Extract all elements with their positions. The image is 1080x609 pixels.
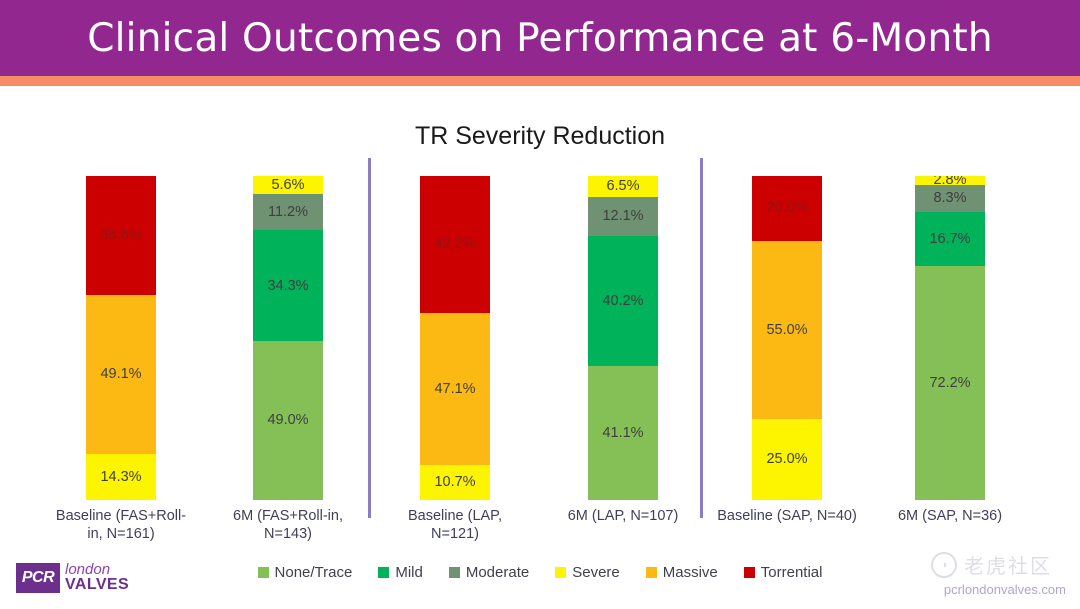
bar-segment-label: 16.7% [929,232,970,247]
page-title: Clinical Outcomes on Performance at 6-Mo… [87,16,993,61]
bar-segment-label: 42.2% [434,237,475,252]
category-label: Baseline (FAS+Roll-in, N=161) [41,507,201,543]
category-label-line: 6M (LAP, N=107) [533,507,713,525]
bar-segment-label: 12.1% [602,209,643,224]
bar-segment-label: 72.2% [929,376,970,391]
logo-valves-text: VALVES [65,577,129,593]
bar-segment-label: 34.3% [267,279,308,294]
legend-swatch-icon [744,567,755,578]
bar-segment[interactable]: 25.0% [752,419,822,500]
category-label: Baseline (SAP, N=40) [692,507,882,525]
bar-segment[interactable]: 16.7% [915,212,985,266]
bar-segment-label: 40.2% [602,294,643,309]
category-label-line: Baseline (LAP, [375,507,535,525]
stacked-bar[interactable]: 6.5%12.1%40.2%41.1% [588,176,658,500]
group-divider [700,158,703,518]
bar-segment-label: 6.5% [606,179,639,194]
bar-segment[interactable]: 2.8% [915,176,985,185]
legend-label: Severe [572,564,620,581]
category-label-line: Baseline (SAP, N=40) [692,507,882,525]
bar-group[interactable]: 2.8%8.3%16.7%72.2% [915,176,985,500]
bar-segment-label: 25.0% [766,452,807,467]
footer-url: pcrlondonvalves.com [944,582,1066,597]
legend-swatch-icon [378,567,389,578]
chart-area: TR Severity Reduction 36.6%49.1%14.3%Bas… [0,86,1080,609]
bar-segment-label: 11.2% [268,205,308,220]
logo-wordmark: london VALVES [65,562,129,594]
category-label: 6M (LAP, N=107) [533,507,713,525]
bar-segment-label: 20.0% [766,201,807,216]
bar-segment[interactable]: 20.0% [752,176,822,241]
legend-label: Moderate [466,564,529,581]
category-label: 6M (SAP, N=36) [860,507,1040,525]
legend-swatch-icon [646,567,657,578]
bar-segment[interactable]: 12.1% [588,197,658,236]
bar-segment-label: 41.1% [602,426,643,441]
stacked-bar[interactable]: 2.8%8.3%16.7%72.2% [915,176,985,500]
legend-item[interactable]: Mild [378,564,423,581]
category-label-line: 6M (SAP, N=36) [860,507,1040,525]
category-label-line: 6M (FAS+Roll-in, [208,507,368,525]
category-label-line: N=143) [208,525,368,543]
bar-segment-label: 2.8% [933,176,966,185]
legend-item[interactable]: Massive [646,564,718,581]
category-label-line: in, N=161) [41,525,201,543]
stacked-bar[interactable]: 20.0%55.0%25.0% [752,176,822,500]
bar-segment[interactable]: 8.3% [915,185,985,212]
bar-group[interactable]: 20.0%55.0%25.0% [752,176,822,500]
pcr-london-valves-logo: PCR london VALVES [16,562,129,594]
bar-segment[interactable]: 47.1% [420,313,490,466]
slide-title-banner: Clinical Outcomes on Performance at 6-Mo… [0,0,1080,76]
legend-swatch-icon [449,567,460,578]
bar-segment[interactable]: 42.2% [420,176,490,313]
bar-group[interactable]: 42.2%47.1%10.7% [420,176,490,500]
bar-segment-label: 14.3% [100,470,141,485]
bar-segment[interactable]: 10.7% [420,465,490,500]
category-label: Baseline (LAP,N=121) [375,507,535,543]
logo-london-text: london [65,562,129,577]
bar-segment[interactable]: 11.2% [253,194,323,230]
stacked-bar-plot: 36.6%49.1%14.3%Baseline (FAS+Roll-in, N=… [0,86,1080,609]
category-label-line: N=121) [375,525,535,543]
legend-item[interactable]: Moderate [449,564,529,581]
bar-segment[interactable]: 40.2% [588,236,658,366]
group-divider [368,158,371,518]
bar-segment[interactable]: 34.3% [253,230,323,341]
bar-segment-label: 36.6% [100,228,141,243]
category-label: 6M (FAS+Roll-in,N=143) [208,507,368,543]
legend-swatch-icon [258,567,269,578]
chart-legend: None/TraceMildModerateSevereMassiveTorre… [0,564,1080,581]
legend-item[interactable]: None/Trace [258,564,353,581]
pcr-logo-mark: PCR [16,563,60,593]
bar-group[interactable]: 5.6%11.2%34.3%49.0% [253,176,323,500]
stacked-bar[interactable]: 5.6%11.2%34.3%49.0% [253,176,323,500]
legend-label: Massive [663,564,718,581]
bar-segment-label: 5.6% [271,178,304,193]
bar-segment-label: 8.3% [933,191,966,206]
stacked-bar[interactable]: 36.6%49.1%14.3% [86,176,156,500]
category-label-line: Baseline (FAS+Roll- [41,507,201,525]
legend-label: Mild [395,564,423,581]
legend-swatch-icon [555,567,566,578]
title-accent-bar [0,76,1080,86]
bar-segment-label: 47.1% [434,382,475,397]
legend-item[interactable]: Torrential [744,564,823,581]
legend-label: Torrential [761,564,823,581]
bar-segment-label: 55.0% [766,323,807,338]
bar-segment[interactable]: 41.1% [588,366,658,499]
bar-segment[interactable]: 49.0% [253,341,323,500]
legend-item[interactable]: Severe [555,564,620,581]
bar-segment[interactable]: 55.0% [752,241,822,419]
bar-segment[interactable]: 36.6% [86,176,156,295]
bar-segment[interactable]: 49.1% [86,295,156,454]
bar-group[interactable]: 6.5%12.1%40.2%41.1% [588,176,658,500]
legend-label: None/Trace [275,564,353,581]
stacked-bar[interactable]: 42.2%47.1%10.7% [420,176,490,500]
bar-segment-label: 49.0% [267,413,308,428]
bar-group[interactable]: 36.6%49.1%14.3% [86,176,156,500]
bar-segment[interactable]: 5.6% [253,176,323,194]
bar-segment[interactable]: 14.3% [86,454,156,500]
bar-segment[interactable]: 6.5% [588,176,658,197]
bar-segment-label: 49.1% [100,367,141,382]
bar-segment[interactable]: 72.2% [915,266,985,500]
bar-segment-label: 10.7% [434,475,475,490]
